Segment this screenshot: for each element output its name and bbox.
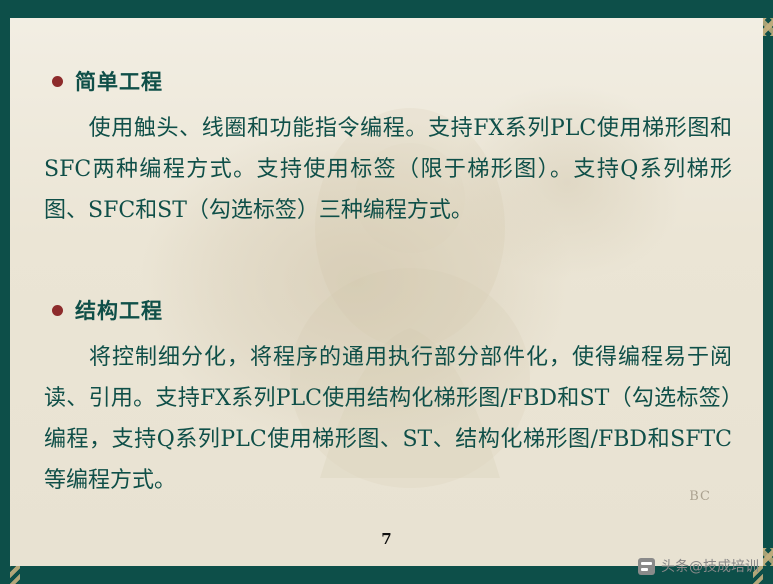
page-number: 7 bbox=[10, 530, 763, 548]
brand-watermark: 头条@技成培训 bbox=[638, 556, 759, 576]
bullet-item-1: 简单工程 bbox=[52, 66, 163, 96]
brand-name: 头条@技成培训 bbox=[661, 556, 759, 576]
bullet-dot-icon bbox=[52, 76, 63, 87]
corner-watermark: BC bbox=[689, 489, 711, 504]
bullet-label-1: 简单工程 bbox=[75, 66, 163, 96]
paragraph-1: 使用触头、线圈和功能指令编程。支持FX系列PLC使用梯形图和SFC两种编程方式。… bbox=[44, 108, 732, 231]
bullet-label-2: 结构工程 bbox=[75, 295, 163, 325]
slide-content: 简单工程 使用触头、线圈和功能指令编程。支持FX系列PLC使用梯形图和SFC两种… bbox=[10, 18, 763, 566]
slide: 简单工程 使用触头、线圈和功能指令编程。支持FX系列PLC使用梯形图和SFC两种… bbox=[0, 0, 773, 584]
slide-canvas: 简单工程 使用触头、线圈和功能指令编程。支持FX系列PLC使用梯形图和SFC两种… bbox=[10, 18, 763, 566]
paragraph-1-text: 使用触头、线圈和功能指令编程。支持FX系列PLC使用梯形图和SFC两种编程方式。… bbox=[44, 116, 732, 223]
paragraph-2: 将控制细分化，将程序的通用执行部分部件化，使得编程易于阅读、引用。支持FX系列P… bbox=[44, 337, 732, 501]
bullet-item-2: 结构工程 bbox=[52, 295, 163, 325]
bullet-dot-icon bbox=[52, 305, 63, 316]
toutiao-logo-icon bbox=[638, 558, 655, 575]
paragraph-2-text: 将控制细分化，将程序的通用执行部分部件化，使得编程易于阅读、引用。支持FX系列P… bbox=[44, 345, 732, 493]
